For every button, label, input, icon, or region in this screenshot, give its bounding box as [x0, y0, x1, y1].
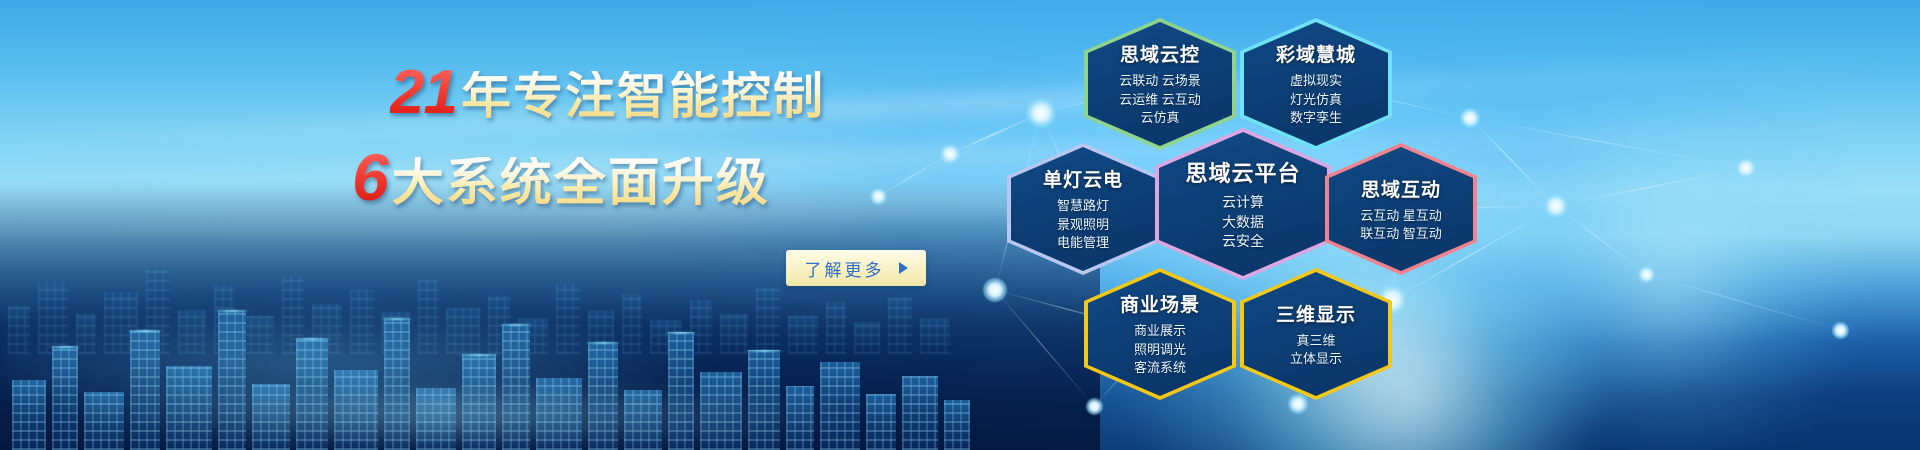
hexagon-sanwei-xianshi[interactable]: 三维显示真三维立体显示 — [1240, 268, 1392, 400]
hexagon-subitems: 云联动 云场景云运维 云互动云仿真 — [1119, 72, 1201, 127]
hexagon-content: 单灯云电智慧路灯景观照明电能管理 — [1037, 165, 1129, 252]
hexagon-subitems: 虚拟现实灯光仿真数字孪生 — [1290, 72, 1342, 127]
hexagon-content: 思域互动云互动 星互动联互动 智互动 — [1354, 175, 1448, 244]
hexagon-subitems: 真三维立体显示 — [1290, 332, 1342, 369]
hexagon-subitem: 云计算 — [1222, 193, 1264, 213]
hexagon-siyu-yunpingtai[interactable]: 思域云平台云计算大数据云安全 — [1155, 128, 1331, 280]
hexagon-subitem: 云仿真 — [1119, 109, 1201, 127]
hexagon-title: 彩域慧城 — [1276, 40, 1356, 67]
hexagon-siyu-yunkong[interactable]: 思域云控云联动 云场景云运维 云互动云仿真 — [1084, 18, 1236, 150]
hexagon-subitems: 商业展示照明调光客流系统 — [1134, 322, 1186, 377]
hexagon-content: 思域云控云联动 云场景云运维 云互动云仿真 — [1113, 40, 1207, 127]
hexagon-subitem: 智慧路灯 — [1057, 197, 1109, 215]
hexagon-title: 思域云控 — [1120, 40, 1200, 67]
hexagon-subitem: 云安全 — [1222, 232, 1264, 252]
hexagon-subitems: 云互动 星互动联互动 智互动 — [1360, 207, 1442, 244]
hexagon-subitem: 电能管理 — [1057, 234, 1109, 252]
hexagon-subitem: 景观照明 — [1057, 216, 1109, 234]
hexagon-shangye-changjing[interactable]: 商业场景商业展示照明调光客流系统 — [1084, 268, 1236, 400]
hexagon-caiyu-huicheng[interactable]: 彩域慧城虚拟现实灯光仿真数字孪生 — [1240, 18, 1392, 150]
hexagon-title: 三维显示 — [1276, 300, 1356, 327]
hexagon-content: 思域云平台云计算大数据云安全 — [1179, 156, 1306, 253]
hexagon-subitem: 云联动 云场景 — [1119, 72, 1201, 90]
hexagon-content: 三维显示真三维立体显示 — [1270, 300, 1362, 369]
hexagon-dandeng-yundian[interactable]: 单灯云电智慧路灯景观照明电能管理 — [1007, 143, 1159, 275]
hexagon-content: 彩域慧城虚拟现实灯光仿真数字孪生 — [1270, 40, 1362, 127]
hexagon-subitem: 联互动 智互动 — [1360, 225, 1442, 243]
hero-banner: 21 年专注智能控制 6 大系统全面升级 了解更多 思域云控云联动 云场景云运维… — [0, 0, 1920, 450]
hexagon-subitem: 客流系统 — [1134, 359, 1186, 377]
hexagon-subitem: 照明调光 — [1134, 341, 1186, 359]
hexagon-title: 思域云平台 — [1185, 156, 1300, 188]
hexagon-subitem: 云互动 星互动 — [1360, 207, 1442, 225]
hexagon-subitem: 灯光仿真 — [1290, 91, 1342, 109]
hexagon-subitem: 立体显示 — [1290, 350, 1342, 368]
hexagon-subitem: 数字孪生 — [1290, 109, 1342, 127]
hexagon-subitems: 智慧路灯景观照明电能管理 — [1057, 197, 1109, 252]
hexagon-title: 商业场景 — [1120, 290, 1200, 317]
hexagon-subitem: 商业展示 — [1134, 322, 1186, 340]
hexagon-subitems: 云计算大数据云安全 — [1222, 193, 1264, 253]
hexagon-subitem: 虚拟现实 — [1290, 72, 1342, 90]
hexagon-cluster: 思域云控云联动 云场景云运维 云互动云仿真彩域慧城虚拟现实灯光仿真数字孪生单灯云… — [0, 0, 1920, 450]
hexagon-content: 商业场景商业展示照明调光客流系统 — [1114, 290, 1206, 377]
hexagon-title: 思域互动 — [1361, 175, 1441, 202]
hexagon-title: 单灯云电 — [1043, 165, 1123, 192]
hexagon-subitem: 云运维 云互动 — [1119, 91, 1201, 109]
hexagon-siyu-hudong[interactable]: 思域互动云互动 星互动联互动 智互动 — [1325, 143, 1477, 275]
hexagon-subitem: 大数据 — [1222, 213, 1264, 233]
hexagon-subitem: 真三维 — [1290, 332, 1342, 350]
